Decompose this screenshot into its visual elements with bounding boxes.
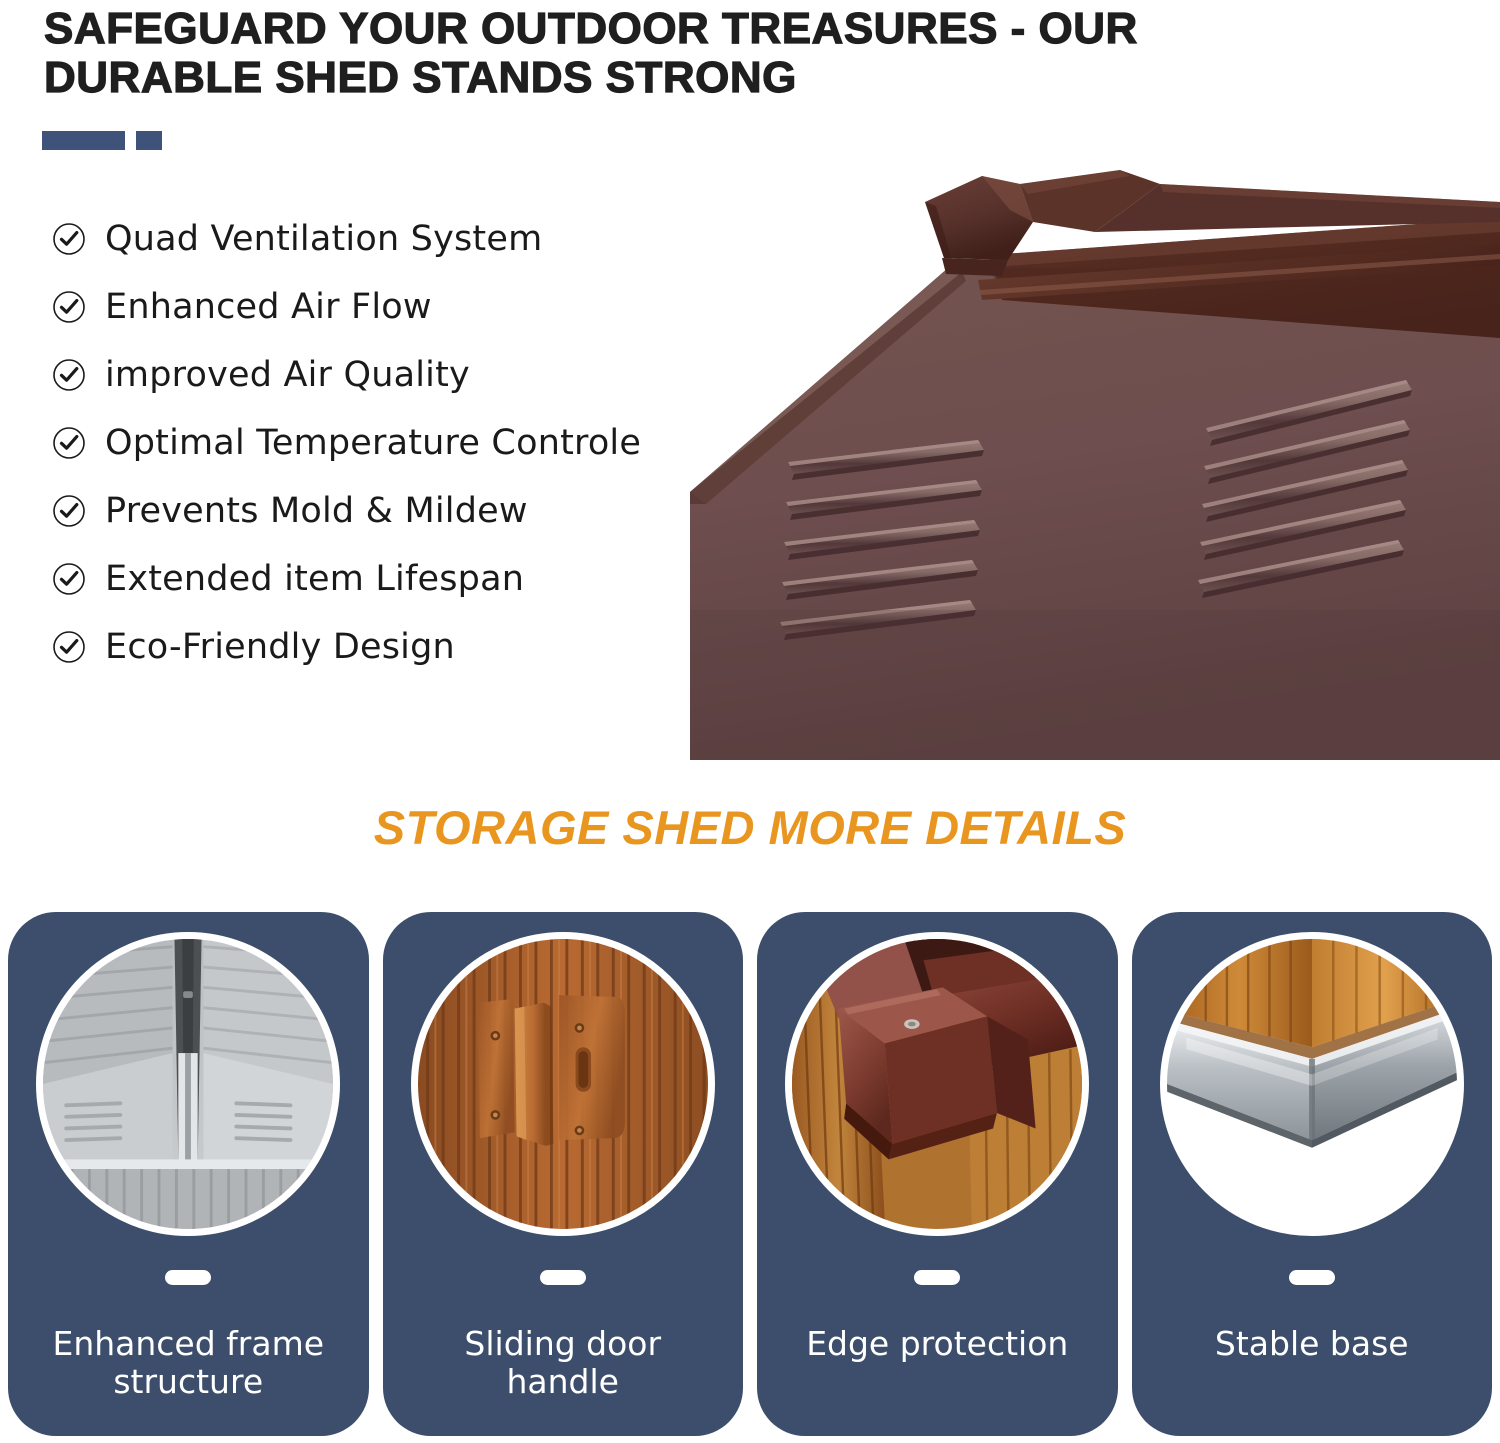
card-divider [165, 1270, 211, 1285]
feature-label: improved Air Quality [105, 355, 470, 395]
accent-bar-large [42, 131, 125, 150]
card-divider [540, 1270, 586, 1285]
feature-label: Eco-Friendly Design [105, 627, 455, 667]
check-circle-icon [52, 630, 86, 664]
card-divider [914, 1270, 960, 1285]
feature-label: Prevents Mold & Mildew [105, 491, 528, 531]
card-label: Edge protection [792, 1325, 1082, 1363]
page-title: SAFEGUARD YOUR OUTDOOR TREASURES - OUR D… [44, 4, 1284, 103]
check-circle-icon [52, 222, 86, 256]
check-circle-icon [52, 494, 86, 528]
detail-card[interactable]: Enhanced frame structure [8, 912, 369, 1436]
feature-label: Optimal Temperature Controle [105, 423, 641, 463]
card-label: Sliding door handle [450, 1325, 675, 1400]
detail-card[interactable]: Stable base [1132, 912, 1493, 1436]
feature-label: Enhanced Air Flow [105, 287, 432, 327]
detail-card-grid: Enhanced frame structure [8, 912, 1492, 1436]
feature-item: Optimal Temperature Controle [52, 409, 752, 477]
feature-item: Prevents Mold & Mildew [52, 477, 752, 545]
shed-gable-vent-photo [690, 140, 1500, 760]
enhanced-frame-structure-photo [36, 932, 340, 1236]
feature-label: Quad Ventilation System [105, 219, 542, 259]
sliding-door-handle-photo [411, 932, 715, 1236]
feature-item: Extended item Lifespan [52, 545, 752, 613]
stable-base-photo [1160, 932, 1464, 1236]
check-circle-icon [52, 358, 86, 392]
check-circle-icon [52, 290, 86, 324]
feature-label: Extended item Lifespan [105, 559, 524, 599]
feature-item: improved Air Quality [52, 341, 752, 409]
card-label: Enhanced frame structure [38, 1325, 338, 1400]
accent-bar-group [42, 131, 162, 150]
section-heading: STORAGE SHED MORE DETAILS [0, 800, 1500, 855]
accent-bar-small [136, 131, 162, 150]
detail-card[interactable]: Edge protection [757, 912, 1118, 1436]
feature-item: Enhanced Air Flow [52, 273, 752, 341]
detail-card[interactable]: Sliding door handle [383, 912, 744, 1436]
card-label: Stable base [1201, 1325, 1423, 1363]
edge-protection-photo [785, 932, 1089, 1236]
feature-list: Quad Ventilation System Enhanced Air Flo… [52, 205, 752, 681]
feature-item: Eco-Friendly Design [52, 613, 752, 681]
check-circle-icon [52, 426, 86, 460]
card-divider [1289, 1270, 1335, 1285]
feature-item: Quad Ventilation System [52, 205, 752, 273]
check-circle-icon [52, 562, 86, 596]
